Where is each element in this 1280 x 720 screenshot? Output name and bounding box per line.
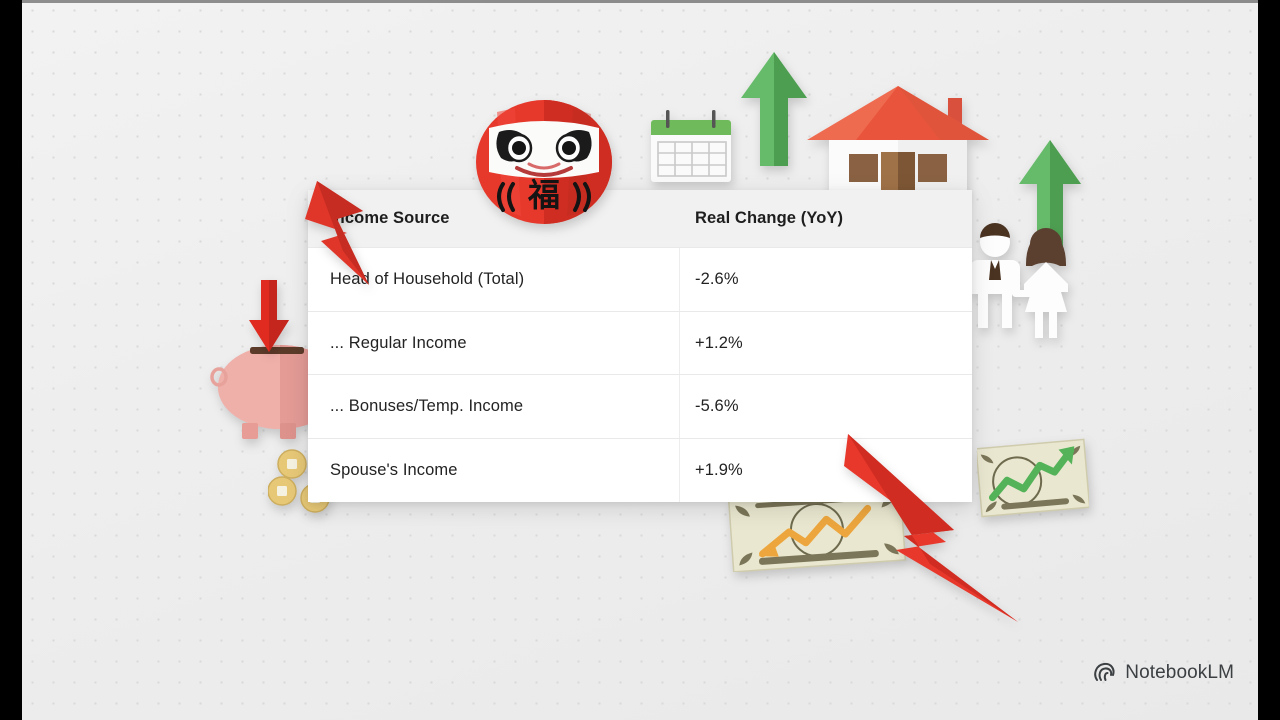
income-source-value: ... Bonuses/Temp. Income [330, 397, 523, 416]
table-cell-change: -5.6% [679, 375, 972, 438]
couple-figures-illustration [960, 218, 1082, 340]
daruma-doll-illustration: 福 [455, 98, 633, 226]
table-cell-source: ... Bonuses/Temp. Income [308, 375, 679, 438]
slide-canvas: 福 [22, 0, 1258, 720]
column-header-real-change: Real Change (YoY) [695, 209, 843, 228]
table-row: Head of Household (Total) -2.6% [308, 247, 972, 311]
table-header-row: Income Source Real Change (YoY) [308, 190, 972, 247]
green-up-arrow-icon [740, 50, 808, 168]
calendar-icon [646, 108, 738, 188]
slide-stage: 福 [0, 0, 1280, 720]
table-row: ... Regular Income +1.2% [308, 311, 972, 375]
top-border-line [22, 0, 1258, 3]
real-change-value: +1.2% [695, 334, 743, 353]
real-change-value: +1.9% [695, 461, 743, 480]
house-illustration [805, 84, 991, 200]
table-cell-source: ... Regular Income [308, 312, 679, 375]
red-lightning-bolt-icon [842, 432, 1024, 624]
income-source-value: ... Regular Income [330, 334, 467, 353]
table-cell-change: -2.6% [679, 248, 972, 311]
table-header-cell-change: Real Change (YoY) [679, 190, 972, 247]
red-down-arrow-icon [248, 280, 290, 354]
table-cell-source: Spouse's Income [308, 439, 679, 502]
income-source-value: Spouse's Income [330, 461, 458, 480]
table-row: ... Bonuses/Temp. Income -5.6% [308, 374, 972, 438]
table-cell-change: +1.2% [679, 312, 972, 375]
svg-text:福: 福 [527, 176, 560, 214]
brand-label: NotebookLM [1125, 662, 1234, 684]
real-change-value: -5.6% [695, 397, 739, 416]
real-change-value: -2.6% [695, 270, 739, 289]
notebooklm-spiral-icon [1093, 662, 1117, 684]
red-lightning-bolt-icon [303, 179, 375, 291]
notebooklm-brand: NotebookLM [1093, 662, 1234, 684]
